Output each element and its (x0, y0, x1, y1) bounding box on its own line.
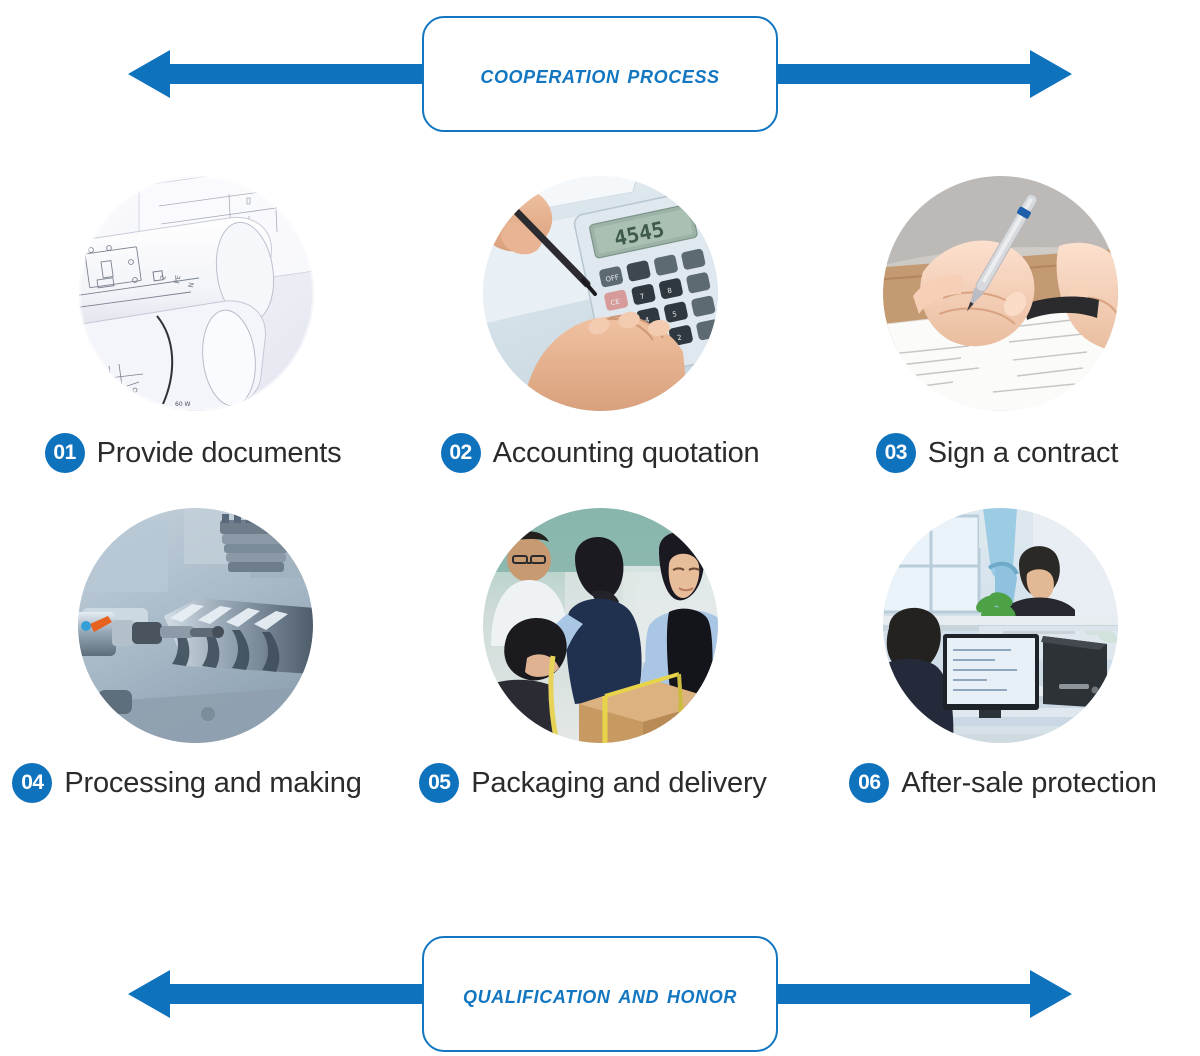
step-card-02[interactable]: 4545 (400, 176, 800, 508)
step-caption-06: 06 After-sale protection (849, 759, 1156, 807)
svg-text:60 W: 60 W (175, 401, 191, 408)
step-label-01: Provide documents (97, 437, 342, 470)
step-badge-04: 04 (12, 763, 52, 803)
office-staff-computers-photo (883, 508, 1118, 743)
steps-row-2: 04 Processing and making (0, 508, 1200, 844)
step-badge-03: 03 (876, 433, 916, 473)
step-caption-02: 02 Accounting quotation (441, 429, 760, 477)
step-label-03: Sign a contract (928, 437, 1118, 470)
top-banner: Cooperation process (0, 8, 1200, 140)
step-card-06[interactable]: 06 After-sale protection (800, 508, 1200, 844)
steps-grid: 2 PE N (0, 176, 1200, 844)
step-badge-05: 05 (419, 763, 459, 803)
svg-text:PE: PE (173, 274, 182, 284)
step-badge-01: 01 (45, 433, 85, 473)
step-caption-04: 04 Processing and making (12, 759, 361, 807)
bottom-title-box: Qualification and honor (422, 936, 778, 1052)
top-title-box: Cooperation process (422, 16, 778, 132)
step-caption-01: 01 Provide documents (45, 429, 342, 477)
step-card-05[interactable]: 05 Packaging and delivery (400, 508, 800, 844)
cnc-machining-photo (78, 508, 313, 743)
rolled-blueprints-photo: 2 PE N (79, 176, 314, 411)
steps-row-1: 2 PE N (0, 176, 1200, 508)
bottom-banner: Qualification and honor (0, 928, 1200, 1056)
step-badge-02: 02 (441, 433, 481, 473)
svg-text:b1: b1 (131, 397, 139, 404)
step-caption-05: 05 Packaging and delivery (419, 759, 766, 807)
step-label-05: Packaging and delivery (471, 767, 766, 800)
workers-packing-boxes-photo (483, 508, 718, 743)
step-card-03[interactable]: 03 Sign a contract (800, 176, 1200, 508)
cooperation-process-infographic: Cooperation process (0, 0, 1200, 1056)
step-label-04: Processing and making (64, 767, 361, 800)
bottom-title-text: Qualification and honor (463, 979, 737, 1010)
step-label-06: After-sale protection (901, 767, 1156, 800)
step-badge-06: 06 (849, 763, 889, 803)
hands-using-calculator-photo: 4545 (483, 176, 718, 411)
step-card-04[interactable]: 04 Processing and making (0, 508, 400, 844)
step-caption-03: 03 Sign a contract (876, 429, 1118, 477)
step-label-02: Accounting quotation (493, 437, 760, 470)
hand-signing-contract-photo (883, 176, 1118, 411)
step-card-01[interactable]: 2 PE N (0, 176, 400, 508)
top-title-text: Cooperation process (480, 59, 719, 90)
